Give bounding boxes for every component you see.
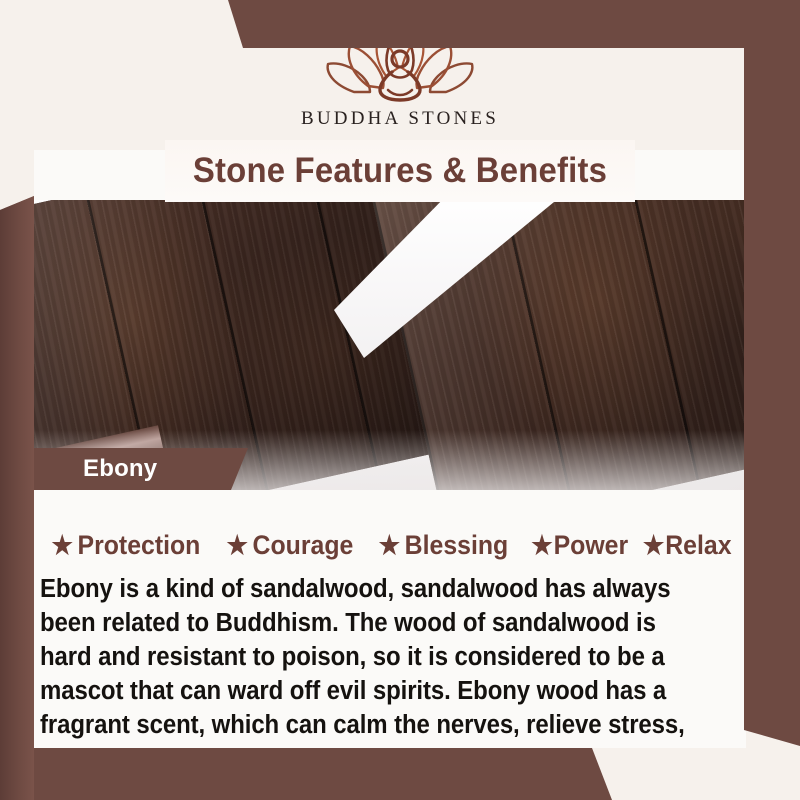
feature-item: ★ Protection bbox=[51, 530, 200, 561]
page-title: Stone Features & Benefits bbox=[24, 140, 776, 202]
infographic-card: BUDDHA STONES Stone Features & Benefits … bbox=[0, 0, 800, 800]
feature-label: Courage bbox=[252, 530, 353, 561]
frame-right-accent bbox=[744, 46, 800, 746]
feature-label: Protection bbox=[77, 530, 200, 561]
feature-list: ★ Protection ★ Courage ★ Blessing ★ Powe… bbox=[34, 524, 746, 566]
star-icon: ★ bbox=[378, 532, 399, 558]
feature-item: ★ Courage bbox=[226, 530, 353, 561]
feature-label: Relax bbox=[665, 530, 731, 561]
frame-left-bevel bbox=[0, 196, 34, 800]
star-icon: ★ bbox=[51, 532, 72, 558]
feature-item: ★ Relax bbox=[643, 530, 732, 561]
feature-label: Power bbox=[554, 530, 629, 561]
stone-description: Ebony is a kind of sandalwood, sandalwoo… bbox=[40, 572, 709, 776]
star-icon: ★ bbox=[643, 532, 664, 558]
star-icon: ★ bbox=[532, 532, 553, 558]
product-photo bbox=[34, 200, 774, 490]
feature-item: ★ Power bbox=[532, 530, 629, 561]
stone-name-label: Ebony bbox=[34, 448, 248, 490]
feature-item: ★ Blessing bbox=[378, 530, 508, 561]
brand-name: BUDDHA STONES bbox=[301, 108, 499, 130]
star-icon: ★ bbox=[226, 532, 247, 558]
feature-label: Blessing bbox=[404, 530, 508, 561]
